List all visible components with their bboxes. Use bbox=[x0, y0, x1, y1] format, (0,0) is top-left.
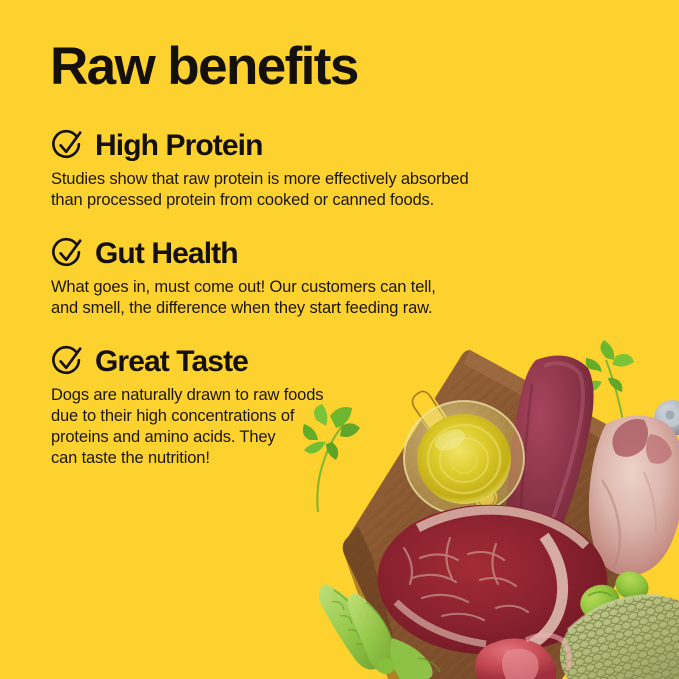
infographic-page: Raw benefits High Protein Studies show t… bbox=[0, 0, 679, 679]
benefit-heading: Great Taste bbox=[50, 344, 610, 380]
benefit-item-gut-health: Gut Health What goes in, must come out! … bbox=[50, 236, 610, 319]
check-circle-icon bbox=[50, 128, 84, 162]
benefit-body: What goes in, must come out! Our custome… bbox=[50, 277, 610, 319]
garlic-clove bbox=[654, 400, 679, 436]
benefit-title: Gut Health bbox=[95, 238, 238, 270]
benefit-title: High Protein bbox=[95, 130, 263, 162]
benefit-heading: High Protein bbox=[50, 128, 610, 164]
benefit-item-great-taste: Great Taste Dogs are naturally drawn to … bbox=[50, 344, 610, 469]
benefit-body: Studies show that raw protein is more ef… bbox=[50, 169, 610, 211]
check-circle-icon bbox=[50, 236, 84, 270]
content-column: Raw benefits High Protein Studies show t… bbox=[50, 0, 650, 679]
page-title: Raw benefits bbox=[50, 39, 358, 95]
benefit-heading: Gut Health bbox=[50, 236, 610, 272]
benefit-title: Great Taste bbox=[95, 346, 248, 378]
benefit-body: Dogs are naturally drawn to raw foods du… bbox=[50, 385, 610, 469]
check-circle-icon bbox=[50, 344, 84, 378]
benefit-item-high-protein: High Protein Studies show that raw prote… bbox=[50, 128, 610, 211]
